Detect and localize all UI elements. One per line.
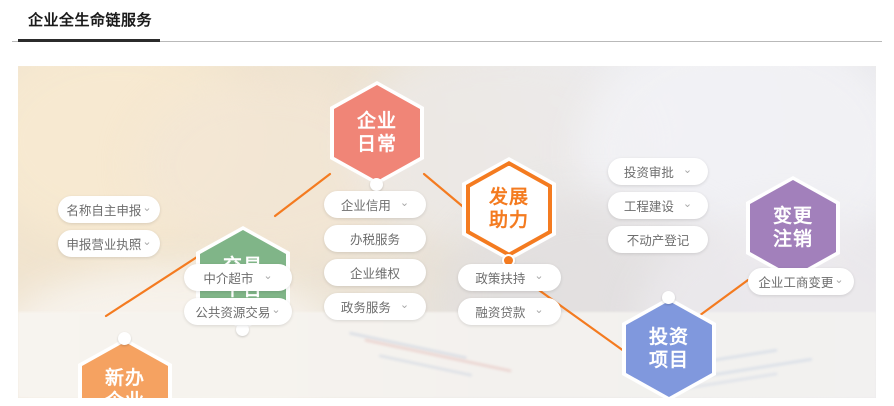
pill-intermediary-market[interactable]: 中介超市 ⌄ — [184, 264, 292, 291]
pill-financing-loan[interactable]: 融资贷款 ⌄ — [458, 298, 561, 325]
hex-label-line2: 项目 — [649, 349, 689, 372]
pill-label: 公共资源交易 — [195, 302, 270, 321]
chevron-down-icon: ⌄ — [534, 305, 543, 316]
hex-node-change-cancellation[interactable]: 变更 注销 — [746, 176, 840, 280]
hex-label: 企业 日常 — [330, 81, 424, 185]
hex-label-line2: 助力 — [489, 209, 529, 232]
hex-label-line1: 新办 — [105, 367, 145, 390]
pill-public-resource-trading[interactable]: 公共资源交易 ⌄ — [184, 298, 292, 325]
chevron-down-icon: ⌄ — [683, 165, 692, 176]
node-dot-enterprise-daily — [370, 178, 383, 191]
pill-engineering-construction[interactable]: 工程建设 ⌄ — [608, 192, 708, 219]
pill-policy-support[interactable]: 政策扶持 ⌄ — [458, 264, 561, 291]
pill-enterprise-rights-protection[interactable]: 企业维权 — [324, 259, 426, 286]
pill-enterprise-business-change[interactable]: 企业工商变更 ⌄ — [748, 268, 854, 295]
hex-label-line2: 企业 — [105, 390, 145, 398]
pill-label: 融资贷款 — [475, 302, 525, 321]
node-dot-new-enterprise — [118, 332, 131, 345]
hex-label-line2: 日常 — [357, 133, 397, 156]
hex-label-line1: 变更 — [773, 205, 813, 228]
hex-label: 变更 注销 — [746, 176, 840, 280]
pill-label: 中介超市 — [203, 268, 253, 287]
chevron-down-icon: ⌄ — [534, 271, 543, 282]
chevron-down-icon: ⌄ — [834, 275, 843, 286]
chevron-down-icon: ⌄ — [263, 271, 272, 282]
chevron-down-icon: ⌄ — [400, 198, 409, 209]
pill-enterprise-credit[interactable]: 企业信用 ⌄ — [324, 191, 426, 218]
hex-label: 投资 项目 — [622, 297, 716, 398]
chevron-down-icon: ⌄ — [400, 300, 409, 311]
chevron-down-icon: ⌄ — [271, 305, 280, 316]
hex-node-investment-project[interactable]: 投资 项目 — [622, 297, 716, 398]
hex-label-line1: 企业 — [357, 110, 397, 133]
hex-label: 发展 助力 — [462, 157, 556, 261]
pill-label: 申报营业执照 — [66, 234, 141, 253]
pill-label: 企业信用 — [341, 195, 391, 214]
header-accent-underline — [18, 39, 160, 42]
pill-business-license-application[interactable]: 申报营业执照 ⌄ — [58, 230, 160, 257]
node-dot-investment-project — [662, 291, 675, 304]
pill-investment-approval[interactable]: 投资审批 ⌄ — [608, 158, 708, 185]
hex-label-line2: 注销 — [773, 228, 813, 251]
hex-node-enterprise-daily[interactable]: 企业 日常 — [330, 81, 424, 185]
hex-label: 新办 企业 — [78, 338, 172, 398]
page-title: 企业全生命链服务 — [28, 11, 152, 31]
hex-node-new-enterprise[interactable]: 新办 企业 — [78, 338, 172, 398]
pill-label: 政务服务 — [341, 297, 391, 316]
pill-label: 企业工商变更 — [758, 272, 833, 291]
chevron-down-icon: ⌄ — [142, 237, 151, 248]
hex-label-line1: 投资 — [649, 326, 689, 349]
page-root: 企业全生命链服务 — [0, 0, 894, 406]
pill-label: 不动产登记 — [627, 230, 690, 249]
page-header: 企业全生命链服务 — [0, 0, 894, 50]
pill-label: 名称自主申报 — [66, 200, 141, 219]
pill-tax-service[interactable]: 办税服务 — [324, 225, 426, 252]
lifecycle-diagram-stage: 新办 企业 交易 平台 企业 日常 — [18, 66, 876, 398]
chevron-down-icon: ⌄ — [142, 203, 151, 214]
pill-label: 企业维权 — [350, 263, 400, 282]
hex-label-line1: 发展 — [489, 186, 529, 209]
pill-label: 政策扶持 — [475, 268, 525, 287]
pill-government-affairs-service[interactable]: 政务服务 ⌄ — [324, 293, 426, 320]
pill-label: 办税服务 — [350, 229, 400, 248]
pill-real-estate-registration[interactable]: 不动产登记 — [608, 226, 708, 253]
chevron-down-icon: ⌄ — [683, 199, 692, 210]
pill-label: 工程建设 — [624, 196, 674, 215]
pill-name-self-declaration[interactable]: 名称自主申报 ⌄ — [58, 196, 160, 223]
hex-node-development-support[interactable]: 发展 助力 — [462, 157, 556, 261]
pill-label: 投资审批 — [624, 162, 674, 181]
